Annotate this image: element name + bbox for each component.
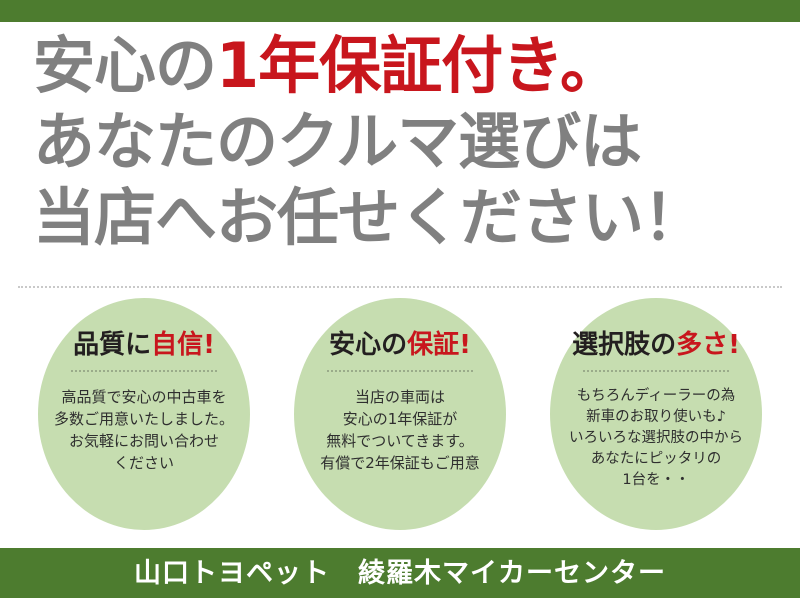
feature-circles: 品質に自信! 高品質で安心の中古車を 多数ご用意いたしました。 お気軽にお問い合… xyxy=(0,298,800,532)
section-divider xyxy=(18,286,782,288)
circle-body-quality: 高品質で安心の中古車を 多数ご用意いたしました。 お気軽にお問い合わせ ください xyxy=(54,386,234,474)
circle-title-quality-red: 自信! xyxy=(151,330,215,360)
circle-title-selection-red: 多さ! xyxy=(676,330,740,360)
headline-line-3: 当店へお任せください！ xyxy=(33,180,773,256)
circle-title-warranty: 安心の保証! xyxy=(329,332,471,358)
headline-block: 安心の1年保証付き。 あなたのクルマ選びは 当店へお任せください！ xyxy=(33,28,773,256)
circle-inner-divider xyxy=(583,370,729,372)
circle-title-quality: 品質に自信! xyxy=(73,332,215,358)
circle-inner-divider xyxy=(71,370,217,372)
circle-inner-divider xyxy=(327,370,473,372)
bottom-green-bar: 山口トヨペット 綾羅木マイカーセンター xyxy=(0,548,800,598)
headline-line-1-gray: 安心の xyxy=(33,29,216,102)
circle-title-selection: 選択肢の多さ! xyxy=(572,332,740,358)
circle-body-warranty: 当店の車両は 安心の1年保証が 無料でついてきます。 有償で2年保証もご用意 xyxy=(320,386,480,474)
dealership-name: 山口トヨペット 綾羅木マイカーセンター xyxy=(134,560,666,587)
top-green-bar xyxy=(0,0,800,22)
circle-title-selection-dark: 選択肢の xyxy=(572,330,676,360)
feature-circle-quality: 品質に自信! 高品質で安心の中古車を 多数ご用意いたしました。 お気軽にお問い合… xyxy=(38,298,250,530)
feature-circle-warranty: 安心の保証! 当店の車両は 安心の1年保証が 無料でついてきます。 有償で2年保… xyxy=(294,298,506,530)
circle-title-warranty-red: 保証! xyxy=(407,330,471,360)
circle-title-quality-dark: 品質に xyxy=(73,330,151,360)
circle-body-selection: もちろんディーラーの為 新車のお取り使いも♪ いろいろな選択肢の中から あなたに… xyxy=(569,386,743,491)
advertisement-banner: 安心の1年保証付き。 あなたのクルマ選びは 当店へお任せください！ 品質に自信!… xyxy=(0,0,800,598)
feature-circle-selection: 選択肢の多さ! もちろんディーラーの為 新車のお取り使いも♪ いろいろな選択肢の… xyxy=(550,298,762,530)
headline-line-1-red: 1年保証付き。 xyxy=(216,29,621,102)
circle-title-warranty-dark: 安心の xyxy=(329,330,407,360)
headline-line-1: 安心の1年保証付き。 xyxy=(33,28,773,104)
headline-line-2: あなたのクルマ選びは xyxy=(33,104,773,180)
